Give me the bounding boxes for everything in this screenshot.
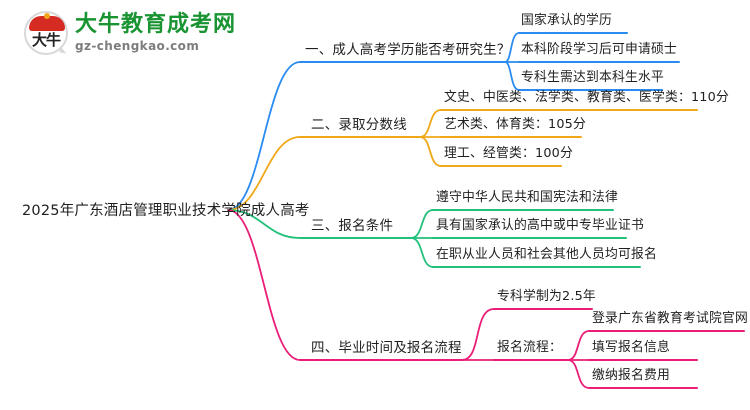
branch-4-child-2[interactable]: 报名流程： bbox=[497, 342, 562, 355]
branch-1-child-1[interactable]: 国家承认的学历 bbox=[521, 15, 612, 28]
logo-title: 大牛教育成考网 bbox=[75, 14, 236, 36]
mindmap-canvas: 大牛 大牛教育成考网 gz-chengkao.com 2025年广东酒店管理职业… bbox=[0, 0, 750, 410]
branch-2-label[interactable]: 二、录取分数线 bbox=[311, 119, 407, 133]
branch-2-child-3[interactable]: 理工、经管类：100分 bbox=[444, 148, 573, 161]
branch-1-child-2[interactable]: 本科阶段学习后可申请硕士 bbox=[521, 44, 677, 57]
logo-bubble-tail bbox=[59, 46, 67, 53]
branch-3-label[interactable]: 三、报名条件 bbox=[311, 220, 393, 234]
branch-2-child-1[interactable]: 文史、中医类、法学类、教育类、医学类：110分 bbox=[444, 92, 729, 105]
branch-4-child-1[interactable]: 专科学制为2.5年 bbox=[497, 291, 596, 304]
branch-1-label[interactable]: 一、成人高考学历能否考研究生？ bbox=[305, 44, 511, 58]
branch-3-child-1[interactable]: 遵守中华人民共和国宪法和法律 bbox=[436, 192, 618, 205]
branch-4-label[interactable]: 四、毕业时间及报名流程 bbox=[311, 342, 462, 356]
mindmap-root-label[interactable]: 2025年广东酒店管理职业技术学院成人高考 bbox=[22, 204, 310, 219]
edge-b4c2-child3 bbox=[568, 360, 589, 388]
edge-root-branch1 bbox=[228, 62, 300, 210]
logo-url: gz-chengkao.com bbox=[75, 40, 236, 52]
edge-root-branch4 bbox=[228, 210, 300, 360]
edge-branch3-child3 bbox=[411, 238, 433, 267]
edge-branch2-child3 bbox=[420, 137, 441, 166]
edge-root-branch2 bbox=[228, 137, 300, 210]
logo-speech-bubble-icon: 大牛 bbox=[24, 11, 68, 55]
branch-3-child-3[interactable]: 在职从业人员和社会其他人员均可报名 bbox=[436, 249, 657, 262]
branch-3-child-2[interactable]: 具有国家承认的高中或中专毕业证书 bbox=[436, 220, 644, 233]
branch-1-child-3[interactable]: 专科生需达到本科生水平 bbox=[521, 72, 664, 85]
edge-b4c2-child1 bbox=[568, 331, 589, 360]
site-logo[interactable]: 大牛 大牛教育成考网 gz-chengkao.com bbox=[24, 11, 236, 55]
branch-2-child-2[interactable]: 艺术类、体育类：105分 bbox=[444, 119, 586, 132]
edge-branch2-child1 bbox=[420, 110, 441, 137]
branch-4-child-2-sub-1[interactable]: 登录广东省教育考试院官网 bbox=[592, 313, 748, 326]
edge-branch1-child3 bbox=[505, 62, 519, 90]
edge-branch4-child1 bbox=[462, 309, 494, 360]
logo-text-block: 大牛教育成考网 gz-chengkao.com bbox=[75, 14, 236, 52]
branch-4-child-2-sub-3[interactable]: 缴纳报名费用 bbox=[592, 370, 670, 383]
branch-4-child-2-sub-2[interactable]: 填写报名信息 bbox=[592, 342, 670, 355]
edge-branch3-child1 bbox=[411, 210, 433, 238]
